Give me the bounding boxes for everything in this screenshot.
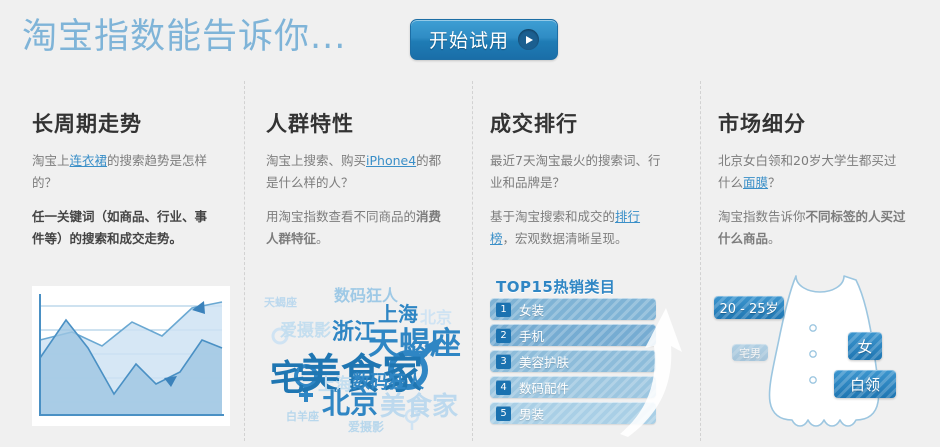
keyword-link[interactable]: iPhone4 bbox=[366, 153, 416, 168]
column-title: 人群特性 bbox=[266, 108, 354, 138]
rank-number: 1 bbox=[496, 302, 511, 317]
rank-label: 数码配件 bbox=[519, 378, 569, 397]
column-description: 用淘宝指数查看不同商品的消费人群特征。 bbox=[266, 206, 444, 250]
rank-list-item[interactable]: 2 手机 bbox=[490, 324, 656, 346]
segment-tag-age[interactable]: 20 - 25岁 bbox=[714, 296, 784, 319]
description-prefix: 用淘宝指数查看不同商品的 bbox=[266, 209, 416, 224]
segment-tag-occupation[interactable]: 白领 bbox=[834, 370, 896, 398]
rank-list-illustration: TOP15热销类目 1 女装 2 手机 3 美容护肤 4 数码配件 bbox=[482, 274, 682, 439]
rank-number: 5 bbox=[496, 406, 511, 421]
column-body: 北京女白领和20岁大学生都买过什么面膜？ 淘宝指数告诉你不同标签的人买过什么商品… bbox=[718, 150, 908, 262]
description-suffix: 。 bbox=[768, 231, 781, 246]
rank-label: 男装 bbox=[519, 404, 544, 423]
question-prefix: 淘宝上搜索、购买 bbox=[266, 153, 366, 168]
column-title: 成交排行 bbox=[490, 108, 578, 138]
rank-list-item[interactable]: 1 女装 bbox=[490, 298, 656, 320]
rank-number: 2 bbox=[496, 328, 511, 343]
column-title: 长周期走势 bbox=[32, 108, 142, 138]
word-cloud-word: 天蝎座 bbox=[264, 294, 297, 310]
word-cloud-word: 爱摄影 bbox=[348, 418, 384, 435]
word-cloud-word: 美食家 bbox=[380, 386, 458, 423]
column-question: 北京女白领和20岁大学生都买过什么面膜？ bbox=[718, 150, 908, 194]
start-trial-button[interactable]: 开始试用 bbox=[410, 19, 558, 60]
feature-columns: 长周期走势 淘宝上连衣裙的搜索趋势是怎样的？ 任一关键词（如商品、行业、事件等）… bbox=[0, 78, 940, 447]
column-description: 基于淘宝搜索和成交的排行榜，宏观数据清晰呈现。 bbox=[490, 206, 662, 250]
word-cloud-word: 白羊座 bbox=[286, 408, 319, 424]
question-suffix: ？ bbox=[768, 175, 781, 190]
market-segment-illustration: 20 - 25岁 宅男 女 白领 bbox=[704, 274, 939, 439]
trend-chart-illustration bbox=[32, 286, 230, 426]
column-question: 淘宝上连衣裙的搜索趋势是怎样的？ bbox=[32, 150, 212, 194]
play-circle-icon bbox=[518, 29, 539, 50]
keyword-link[interactable]: 连衣裙 bbox=[70, 153, 108, 168]
rank-number: 4 bbox=[496, 380, 511, 395]
word-cloud-illustration: 天蝎座 数码狂人 上海 北京 爱摄影 浙江 天蝎座 美食家 宅 上海 数码狂人 … bbox=[256, 278, 466, 438]
column-question: 淘宝上搜索、购买iPhone4的都是什么样的人？ bbox=[266, 150, 444, 194]
column-title: 市场细分 bbox=[718, 108, 806, 138]
rank-list-item[interactable]: 3 美容护肤 bbox=[490, 350, 656, 372]
segment-tag-faded[interactable]: 宅男 bbox=[732, 344, 768, 361]
segment-tag-gender[interactable]: 女 bbox=[848, 332, 882, 360]
description-prefix: 基于淘宝搜索和成交的 bbox=[490, 209, 615, 224]
page-title: 淘宝指数能告诉你... bbox=[22, 14, 346, 60]
word-cloud-word: 北京 bbox=[322, 382, 378, 422]
page-header: 淘宝指数能告诉你... 开始试用 bbox=[0, 0, 940, 78]
feature-column-ranking: 成交排行 最近7天淘宝最火的搜索词、行业和品牌是？ 基于淘宝搜索和成交的排行榜，… bbox=[472, 78, 700, 447]
feature-column-demographics: 人群特性 淘宝上搜索、购买iPhone4的都是什么样的人？ 用淘宝指数查看不同商… bbox=[244, 78, 472, 447]
feature-column-trend: 长周期走势 淘宝上连衣裙的搜索趋势是怎样的？ 任一关键词（如商品、行业、事件等）… bbox=[0, 78, 244, 447]
description-suffix: 。 bbox=[316, 231, 329, 246]
question-prefix: 淘宝上 bbox=[32, 153, 70, 168]
column-body: 最近7天淘宝最火的搜索词、行业和品牌是？ 基于淘宝搜索和成交的排行榜，宏观数据清… bbox=[490, 150, 662, 262]
word-cloud-word: 爱摄影 bbox=[280, 316, 331, 341]
rank-number: 3 bbox=[496, 354, 511, 369]
trend-chart-svg bbox=[32, 286, 230, 426]
description-suffix: ，宏观数据清晰呈现。 bbox=[503, 231, 628, 246]
start-trial-label: 开始试用 bbox=[429, 26, 509, 53]
column-body: 淘宝上搜索、购买iPhone4的都是什么样的人？ 用淘宝指数查看不同商品的消费人… bbox=[266, 150, 444, 262]
column-question: 最近7天淘宝最火的搜索词、行业和品牌是？ bbox=[490, 150, 662, 194]
rank-label: 手机 bbox=[519, 326, 544, 345]
rank-label: 女装 bbox=[519, 300, 544, 319]
feature-column-segmentation: 市场细分 北京女白领和20岁大学生都买过什么面膜？ 淘宝指数告诉你不同标签的人买… bbox=[700, 78, 940, 447]
column-description: 淘宝指数告诉你不同标签的人买过什么商品。 bbox=[718, 206, 908, 250]
keyword-link[interactable]: 面膜 bbox=[743, 175, 768, 190]
column-body: 淘宝上连衣裙的搜索趋势是怎样的？ 任一关键词（如商品、行业、事件等）的搜索和成交… bbox=[32, 150, 212, 262]
column-description: 任一关键词（如商品、行业、事件等）的搜索和成交走势。 bbox=[32, 206, 212, 250]
rank-list-item[interactable]: 5 男装 bbox=[490, 402, 656, 424]
word-cloud-word: 宅 bbox=[270, 350, 305, 401]
rank-label: 美容护肤 bbox=[519, 352, 569, 371]
rank-list-title: TOP15热销类目 bbox=[496, 276, 615, 297]
promo-page: 淘宝指数能告诉你... 开始试用 长周期走势 淘宝上连衣裙的搜索趋势是怎样的？ … bbox=[0, 0, 940, 447]
description-prefix: 淘宝指数告诉你 bbox=[718, 209, 806, 224]
rank-list-item[interactable]: 4 数码配件 bbox=[490, 376, 656, 398]
